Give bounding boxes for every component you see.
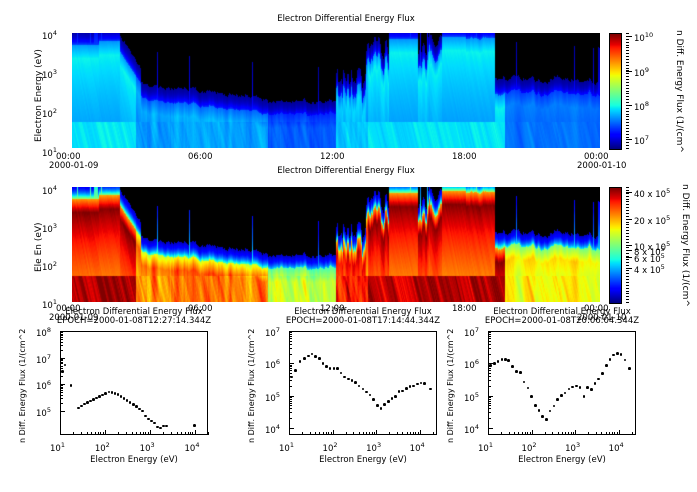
data-point	[343, 376, 346, 379]
subplot-xtick-minor	[185, 432, 186, 435]
subplot-xtick-minor	[366, 432, 367, 435]
subplot-ytick-minor	[289, 366, 292, 367]
data-point	[394, 395, 397, 398]
data-point	[322, 362, 325, 365]
subplot-ytick-minor	[289, 405, 292, 406]
subplot-xtick-mark	[333, 430, 334, 435]
panel1-title: Electron Differential Energy Flux	[186, 14, 506, 24]
subplot-ytick-minor	[289, 418, 292, 419]
colorbar-minor-tick	[626, 42, 629, 43]
subplot-ytick-minor	[60, 390, 63, 391]
subplot-xtick-minor	[596, 432, 597, 435]
colorbar-minor-tick	[626, 219, 629, 220]
panel2-colorbar	[609, 187, 622, 304]
subplot-ytick-minor	[488, 412, 491, 413]
colorbar-minor-tick	[626, 102, 629, 103]
subplot-ytick-labels: 107106105104	[464, 331, 488, 435]
subplot-xtick-mark	[289, 430, 290, 435]
colorbar-minor-tick	[626, 125, 629, 126]
subplot-xtick-minor	[136, 432, 137, 435]
subplot-ytick-labels: 107106105104	[265, 331, 289, 435]
colorbar-minor-tick	[626, 207, 629, 208]
subplot-xtick: 101	[50, 441, 65, 454]
data-point	[405, 387, 408, 390]
subplot-ytick-minor	[289, 334, 292, 335]
data-point	[556, 398, 559, 401]
subplot-xtick-minor	[126, 432, 127, 435]
subplot-xtick-minor	[323, 432, 324, 435]
colorbar-minor-tick	[626, 47, 629, 48]
colorbar-minor-tick	[626, 56, 629, 57]
colorbar-minor-tick	[626, 236, 629, 237]
subplot-xtick-minor	[143, 432, 144, 435]
colorbar-minor-tick	[626, 199, 629, 200]
data-point	[372, 398, 375, 401]
subplot-ytick-minor	[60, 385, 63, 386]
data-point	[560, 394, 563, 397]
subplot-ytick-minor	[289, 403, 292, 404]
subplot-xtick-mark	[105, 430, 106, 435]
data-point	[347, 378, 350, 381]
subplot-ytick-minor	[289, 397, 292, 398]
subplot-xtick-mark	[150, 430, 151, 435]
colorbar-minor-tick	[626, 273, 629, 274]
subplot-xtick-minor	[81, 432, 82, 435]
data-point	[504, 358, 507, 361]
subplot-ytick-minor	[488, 373, 491, 374]
data-point	[92, 398, 95, 401]
data-point	[80, 405, 83, 408]
colorbar-minor-tick	[626, 33, 629, 34]
subplot-ytick-minor	[488, 344, 491, 345]
subplot-ytick: 107	[36, 353, 51, 366]
subplot-ytick-minor	[289, 332, 292, 333]
subplot-xtick-minor	[562, 432, 563, 435]
colorbar-minor-tick	[626, 114, 629, 115]
data-point	[294, 369, 297, 372]
subplot-xtick-minor	[522, 432, 523, 435]
panel1-colorbar-ticks: 1010109108107	[626, 33, 660, 148]
colorbar-minor-tick	[626, 190, 629, 191]
subplot-xtick-minor	[328, 432, 329, 435]
colorbar-minor-tick	[626, 279, 629, 280]
colorbar-minor-tick	[626, 65, 629, 66]
data-point	[412, 385, 415, 388]
data-point	[387, 400, 390, 403]
subplot-xtick-minor	[331, 432, 332, 435]
subplot-xtick-minor	[588, 432, 589, 435]
colorbar-minor-tick	[626, 73, 629, 74]
subplot-xtick-minor	[95, 432, 96, 435]
subplot-xtick-minor	[389, 432, 390, 435]
subplot-xtick-mark	[619, 430, 620, 435]
subplot-ytick-minor	[60, 398, 63, 399]
subplot-ytick-minor	[488, 408, 491, 409]
colorbar-minor-tick	[626, 265, 629, 266]
data-point	[104, 392, 107, 395]
subplot-ytick: 106	[464, 358, 479, 371]
subplot-ytick-minor	[488, 370, 491, 371]
subplot-ytick-minor	[488, 376, 491, 377]
subplot-ytick-minor	[60, 376, 63, 377]
colorbar-minor-tick	[626, 213, 629, 214]
subplot-ytick: 106	[36, 379, 51, 392]
colorbar-minor-tick	[626, 227, 629, 228]
subplot-plot-area[interactable]	[60, 331, 208, 435]
subplot-xtick-minor	[177, 432, 178, 435]
subplot-ytick-minor	[60, 345, 63, 346]
data-point	[423, 382, 426, 385]
colorbar-minor-tick	[626, 193, 629, 194]
subplot-ytick-minor	[289, 348, 292, 349]
subplot-xtick-minor	[346, 432, 347, 435]
data-point	[111, 391, 114, 394]
colorbar-minor-tick	[626, 291, 629, 292]
colorbar-minor-tick	[626, 288, 629, 289]
subplot-ytick-minor	[60, 387, 63, 388]
subplot-xtick: 103	[140, 441, 155, 454]
subplot-ytick-minor	[60, 359, 63, 360]
panel1-xtick: 12:00	[320, 152, 345, 162]
subplot-subtitle: EPOCH=2000-01-08T20:06:04.344Z	[440, 316, 684, 326]
subplot-ytick-minor	[60, 334, 63, 335]
colorbar-minor-tick	[626, 88, 629, 89]
colorbar-minor-tick	[626, 68, 629, 69]
subplot-ytick-minor	[60, 362, 63, 363]
subplot-ytick: 105	[265, 391, 280, 404]
subplot-ytick-minor	[289, 401, 292, 402]
subplot-ylabel: n Diff. Energy Flux (1/(cm^2	[18, 329, 27, 443]
subplot-ylabel: n Diff. Energy Flux (1/(cm^2	[247, 329, 256, 443]
subplot-xtick: 104	[185, 441, 200, 454]
subplot-ylabel: n Diff. Energy Flux (1/(cm^2	[446, 329, 455, 443]
colorbar-minor-tick	[626, 91, 629, 92]
subplot-xtick-minor	[118, 432, 119, 435]
colorbar-minor-tick	[626, 45, 629, 46]
subplot-xtick-minor	[353, 432, 354, 435]
subplot-xtick-minor	[87, 432, 88, 435]
data-point	[594, 382, 597, 385]
panel2-spectrogram[interactable]	[72, 187, 600, 302]
subplot-xtick: 101	[279, 441, 294, 454]
subplot-xtick-minor	[302, 432, 303, 435]
subplot-xtick-minor	[163, 432, 164, 435]
colorbar-minor-tick	[626, 256, 629, 257]
subplot-ytick-minor	[488, 386, 491, 387]
colorbar-minor-tick	[626, 262, 629, 263]
colorbar-minor-tick	[626, 53, 629, 54]
data-point	[314, 355, 317, 358]
subplot-xtick-minor	[132, 432, 133, 435]
subplot-xtick-minor	[617, 432, 618, 435]
subplot-xtick-minor	[171, 432, 172, 435]
colorbar-minor-tick	[626, 79, 629, 80]
colorbar-minor-tick	[626, 108, 629, 109]
colorbar-minor-tick	[626, 59, 629, 60]
colorbar-minor-tick	[626, 276, 629, 277]
colorbar-minor-tick	[626, 116, 629, 117]
subplot-xtick-minor	[369, 432, 370, 435]
data-point	[511, 365, 514, 368]
subplot-xlabel: Electron Energy (eV)	[40, 455, 228, 465]
colorbar-minor-tick	[626, 216, 629, 217]
colorbar-minor-tick	[626, 201, 629, 202]
subplot-ytick-minor	[60, 350, 63, 351]
subplot-xtick-minor	[192, 432, 193, 435]
subplot-ytick: 104	[464, 423, 479, 436]
colorbar-tick: 1010	[634, 31, 653, 44]
data-point	[601, 372, 604, 375]
subplot-ytick-minor	[60, 403, 63, 404]
subplot-xtick-minor	[98, 432, 99, 435]
data-point	[193, 424, 196, 427]
subplot-ytick-minor	[60, 366, 63, 367]
colorbar-minor-tick	[626, 302, 629, 303]
colorbar-minor-tick	[626, 250, 629, 251]
data-point	[325, 365, 328, 368]
subplot-ytick-minor	[488, 348, 491, 349]
subplot-xtick-minor	[103, 432, 104, 435]
subplot-xtick: 104	[609, 441, 624, 454]
colorbar-minor-tick	[626, 96, 629, 97]
data-point	[519, 371, 522, 374]
subplot-ytick-minor	[289, 386, 292, 387]
data-point	[493, 362, 496, 365]
subplot-ytick-minor	[488, 354, 491, 355]
subplot-xtick-minor	[614, 432, 615, 435]
subplot-xtick-mark	[195, 430, 196, 435]
colorbar-tick: 40 x 105	[634, 187, 670, 200]
subplot-ytick-mark	[289, 428, 294, 429]
subplot-xtick-minor	[527, 432, 528, 435]
panel1-xdate: 2000-01-10	[577, 161, 626, 171]
subplot-xtick-minor	[601, 432, 602, 435]
subplot-xtick: 104	[410, 441, 425, 454]
colorbar-minor-tick	[626, 99, 629, 100]
data-point	[391, 397, 394, 400]
subplot-xtick-minor	[558, 432, 559, 435]
colorbar-minor-tick	[626, 285, 629, 286]
subplot-xtick-minor	[571, 432, 572, 435]
colorbar-minor-tick	[626, 204, 629, 205]
colorbar-tick: 108	[634, 100, 649, 113]
subplot-ytick-minor	[60, 335, 63, 336]
colorbar-minor-tick	[626, 137, 629, 138]
colorbar-minor-tick	[626, 268, 629, 269]
subplot-ytick-minor	[60, 332, 63, 333]
data-point	[333, 367, 336, 370]
colorbar-minor-tick	[626, 270, 629, 271]
subplot-ytick-minor	[488, 380, 491, 381]
data-point	[545, 418, 548, 421]
subplot-xtick-minor	[359, 432, 360, 435]
subplot-ytick-minor	[60, 339, 63, 340]
panel2-title: Electron Differential Energy Flux	[186, 166, 506, 176]
subplot-ytick-minor	[60, 388, 63, 389]
subplot-ytick-mark	[60, 411, 65, 412]
subplot-ytick-minor	[488, 366, 491, 367]
colorbar-minor-tick	[626, 93, 629, 94]
subplot-ytick-minor	[289, 408, 292, 409]
subplot-xtick-minor	[518, 432, 519, 435]
subplot-plot-area[interactable]	[289, 331, 437, 435]
subplot-xtick-minor	[91, 432, 92, 435]
subplot-ytick-minor	[60, 392, 63, 393]
subplot-xtick-minor	[565, 432, 566, 435]
subplot-xtick-minor	[310, 432, 311, 435]
subplot-xtick-minor	[326, 432, 327, 435]
colorbar-minor-tick	[626, 148, 629, 149]
subplot-xtick-minor	[410, 432, 411, 435]
data-point	[401, 390, 404, 393]
subplot-xtick-minor	[148, 432, 149, 435]
subplot-xtick-minor	[612, 432, 613, 435]
data-point	[365, 391, 368, 394]
panel1-xdate: 2000-01-09	[49, 161, 98, 171]
colorbar-minor-tick	[626, 50, 629, 51]
data-point	[575, 385, 578, 388]
subplot-xtick-minor	[501, 432, 502, 435]
subplot-xtick: 102	[323, 441, 338, 454]
subplot-ytick-minor	[60, 360, 63, 361]
subplot-xtick: 103	[565, 441, 580, 454]
subplot-ytick-minor	[289, 336, 292, 337]
panel2-colorbar-ticks: 40 x 10520 x 10510 x 1058 x 1056 x 1054 …	[626, 187, 684, 302]
subplot-ytick-minor	[488, 403, 491, 404]
data-point	[586, 386, 589, 389]
colorbar-minor-tick	[626, 134, 629, 135]
subplot-ytick-minor	[488, 405, 491, 406]
colorbar-minor-tick	[626, 222, 629, 223]
data-point	[534, 404, 537, 407]
data-point	[530, 395, 533, 398]
subplot-xtick-minor	[315, 432, 316, 435]
subplot-ytick: 105	[464, 391, 479, 404]
colorbar-tick: 109	[634, 66, 649, 79]
subplot-xtick-minor	[514, 432, 515, 435]
subplot-ytick-minor	[488, 341, 491, 342]
subplot-xtick-minor	[319, 432, 320, 435]
data-point	[590, 388, 593, 391]
colorbar-minor-tick	[626, 282, 629, 283]
data-point	[571, 386, 574, 389]
data-point	[597, 378, 600, 381]
subplot-xtick-minor	[208, 432, 209, 435]
colorbar-minor-tick	[626, 39, 629, 40]
colorbar-minor-tick	[626, 247, 629, 248]
subplot-xtick-mark	[575, 430, 576, 435]
subplot-ytick-minor	[60, 363, 63, 364]
subplot-ytick-minor	[488, 334, 491, 335]
subplot-ytick-minor	[289, 365, 292, 366]
subplot-ytick: 105	[36, 406, 51, 419]
subplot-xtick: 102	[95, 441, 110, 454]
subplot-xtick: 101	[478, 441, 493, 454]
subplot-xtick-minor	[413, 432, 414, 435]
panel1-ytick-labels: 104 103 102 101	[42, 30, 70, 150]
subplot-xtick-mark	[488, 430, 489, 435]
subplot-ytick: 108	[36, 326, 51, 339]
subplot-xtick-minor	[606, 432, 607, 435]
data-point	[376, 404, 379, 407]
subplot-ytick-minor	[60, 395, 63, 396]
subplot-xtick: 102	[522, 441, 537, 454]
colorbar-minor-tick	[626, 233, 629, 234]
colorbar-minor-tick	[626, 253, 629, 254]
data-point	[61, 370, 64, 373]
subplot-ytick-minor	[60, 368, 63, 369]
colorbar-minor-tick	[626, 62, 629, 63]
subplot-ytick-minor	[289, 412, 292, 413]
subplot-xtick-minor	[145, 432, 146, 435]
colorbar-minor-tick	[626, 210, 629, 211]
subplot-ytick-minor	[488, 338, 491, 339]
subplot-xtick-minor	[415, 432, 416, 435]
data-point	[628, 367, 631, 370]
panel2-ytick-labels: 104 103 102 101	[42, 185, 70, 303]
subplot-xtick-minor	[433, 432, 434, 435]
subplot-xtick-mark	[60, 430, 61, 435]
subplot-ytick-minor	[289, 344, 292, 345]
colorbar-minor-tick	[626, 296, 629, 297]
subplot-xtick-minor	[573, 432, 574, 435]
subplot-xtick-minor	[402, 432, 403, 435]
colorbar-minor-tick	[626, 242, 629, 243]
subplot-xtick-minor	[568, 432, 569, 435]
colorbar-minor-tick	[626, 36, 629, 37]
subplot-xtick-minor	[397, 432, 398, 435]
subplot-ytick-mark	[488, 428, 493, 429]
subplot-ytick-minor	[488, 332, 491, 333]
colorbar-minor-tick	[626, 122, 629, 123]
subplot-xtick-minor	[632, 432, 633, 435]
subplot-xtick-minor	[407, 432, 408, 435]
subplot-ytick-minor	[488, 399, 491, 400]
subplot-subtitle: EPOCH=2000-01-08T12:27:14.344Z	[12, 316, 256, 326]
data-point	[515, 370, 518, 373]
subplot-xtick-minor	[363, 432, 364, 435]
subplot-plot-area[interactable]	[488, 331, 636, 435]
subplot-xtick-minor	[552, 432, 553, 435]
data-point	[616, 352, 619, 355]
subplot-xtick-minor	[530, 432, 531, 435]
subplot-ytick-minor	[488, 401, 491, 402]
colorbar-minor-tick	[626, 230, 629, 231]
subplot-xtick-mark	[420, 430, 421, 435]
subplot-xtick-minor	[190, 432, 191, 435]
subplot-xtick-minor	[545, 432, 546, 435]
subplot-ytick-minor	[60, 342, 63, 343]
colorbar-tick: 4 x 105	[634, 263, 665, 276]
subplot-xtick-minor	[418, 432, 419, 435]
panel2-colorbar-label: n Diff. Energy Flux (1/(cm^	[680, 184, 690, 307]
subplot-xtick-mark	[532, 430, 533, 435]
colorbar-minor-tick	[626, 76, 629, 77]
data-point	[489, 364, 492, 367]
data-point	[354, 381, 357, 384]
subplot-ytick-minor	[289, 338, 292, 339]
panel1-spectrogram[interactable]	[72, 33, 600, 148]
subplot-ytick-minor	[488, 368, 491, 369]
subplot-xlabel: Electron Energy (eV)	[468, 455, 656, 465]
colorbar-minor-tick	[626, 70, 629, 71]
colorbar-minor-tick	[626, 119, 629, 120]
colorbar-minor-tick	[626, 105, 629, 106]
colorbar-minor-tick	[626, 139, 629, 140]
panel1-colorbar-label: n Diff. Energy Flux (1/(cm^	[674, 30, 684, 153]
subplot-ytick-minor	[488, 336, 491, 337]
subplot-xlabel: Electron Energy (eV)	[269, 455, 457, 465]
